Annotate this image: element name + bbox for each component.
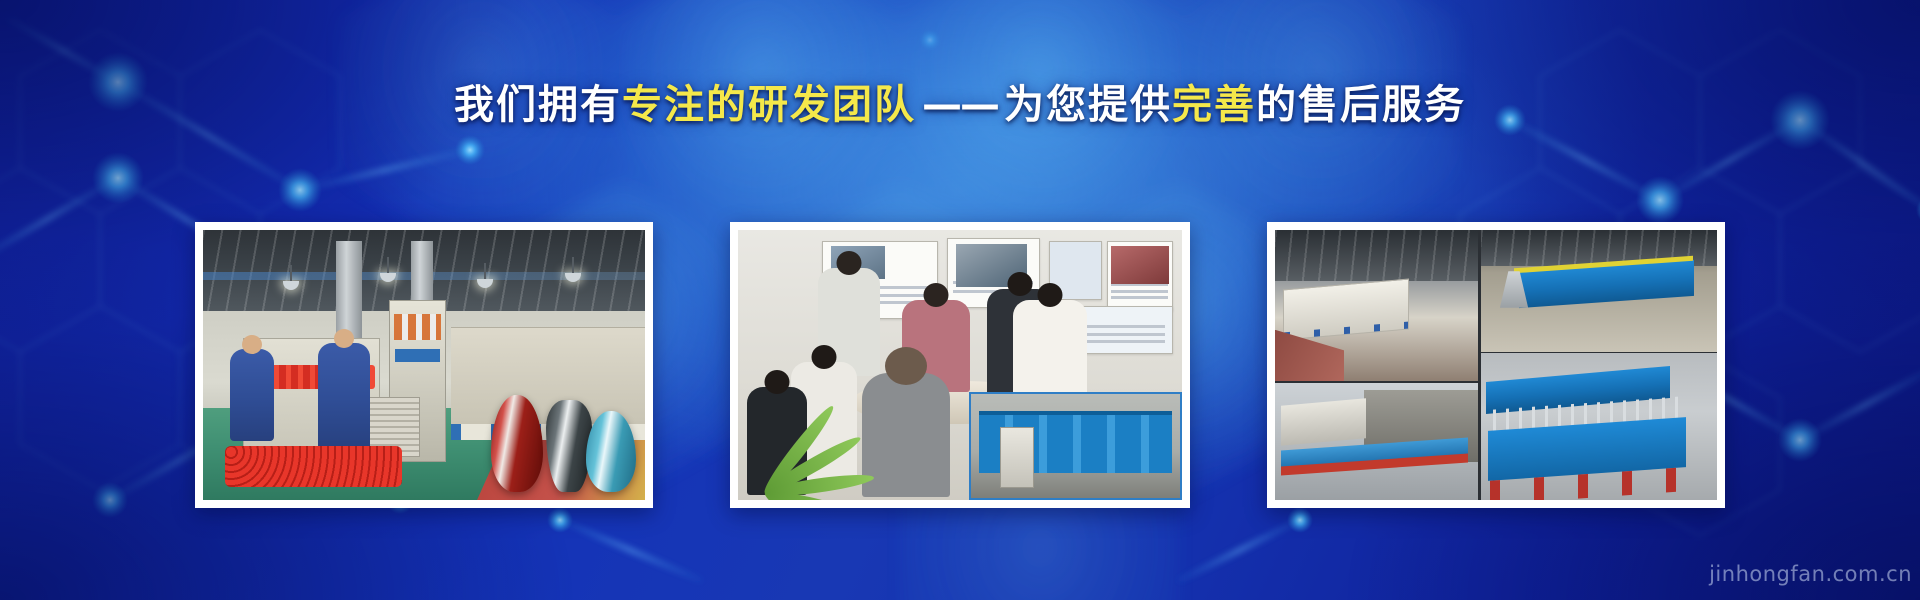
photo-equipment-collage <box>1275 230 1717 500</box>
promo-banner: 我们拥有专注的研发团队——为您提供完善的售后服务 <box>0 0 1920 600</box>
red-product-pile <box>225 446 402 487</box>
photo-team-meeting <box>738 230 1182 500</box>
site-watermark: jinhongfan.com.cn <box>1709 562 1912 586</box>
potted-plant <box>765 376 895 500</box>
headline-seg-4: 为您提供 <box>1004 82 1172 128</box>
worker-figure <box>230 349 274 441</box>
glass-vase-grey <box>546 400 592 492</box>
photo-card-meeting[interactable] <box>730 222 1190 508</box>
headline-seg-2-highlight: 专注的研发团队 <box>622 82 916 128</box>
headline-container: 我们拥有专注的研发团队——为您提供完善的售后服务 <box>0 82 1920 128</box>
headline-seg-6: 的售后服务 <box>1256 82 1466 128</box>
collage-tile-tunnel-line <box>1275 230 1478 381</box>
worker-figure <box>318 343 370 451</box>
page-title: 我们拥有专注的研发团队——为您提供完善的售后服务 <box>454 82 1466 128</box>
headline-seg-1: 我们拥有 <box>454 82 622 128</box>
photo-production-line <box>203 230 645 500</box>
collage-tile-hanger-line <box>1481 353 1717 500</box>
equipment-inset-photo <box>969 392 1182 500</box>
headline-dash: —— <box>916 82 1004 128</box>
collage-tile-conveyor <box>1275 383 1478 500</box>
photo-card-production-line[interactable] <box>195 222 653 508</box>
collage-tile-blue-oven <box>1481 230 1717 352</box>
photo-card-equipment-collage[interactable] <box>1267 222 1725 508</box>
photo-gallery <box>0 222 1920 508</box>
headline-seg-5-highlight: 完善 <box>1172 82 1256 128</box>
poster-photo <box>1111 246 1169 284</box>
tunnel-furnace <box>451 327 645 424</box>
